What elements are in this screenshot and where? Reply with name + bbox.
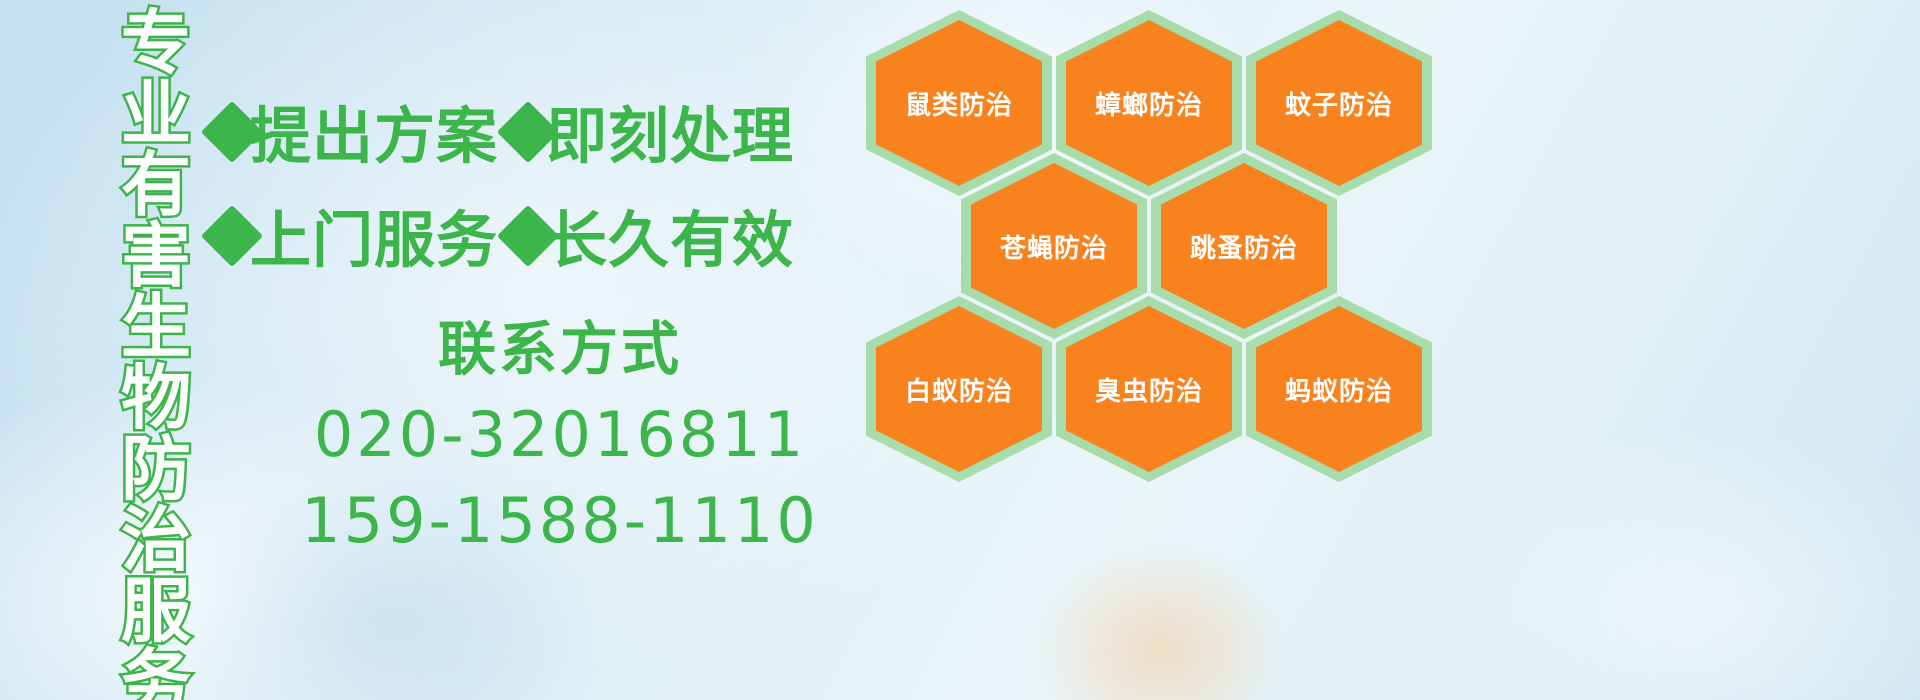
vertical-slogan-char: 专 [121, 8, 191, 79]
hex-inner: 苍蝇防治 [971, 163, 1137, 329]
vertical-slogan-char: 物 [121, 363, 191, 434]
contact-phone-mobile[interactable]: 159-1588-1110 [300, 478, 820, 564]
feature-list: 提出方案 即刻处理 上门服务 长久有效 [232, 78, 794, 286]
hex-label: 蟑螂防治 [1095, 85, 1203, 122]
hex-label: 跳蚤防治 [1190, 228, 1298, 265]
vertical-slogan-char: 防 [121, 434, 191, 505]
hex-inner: 蚂蚁防治 [1256, 306, 1422, 472]
contact-phone-landline[interactable]: 020-32016811 [300, 392, 820, 478]
vertical-slogan-char: 生 [121, 292, 191, 363]
contact-block: 联系方式 020-32016811 159-1588-1110 [300, 306, 820, 564]
feature-row: 上门服务 长久有效 [232, 182, 794, 286]
vertical-slogan-char: 治 [121, 505, 191, 576]
feature-item-long-lasting: 长久有效 [528, 190, 794, 279]
vertical-slogan-char: 服 [121, 576, 191, 647]
hex-label: 臭虫防治 [1095, 371, 1203, 408]
feature-item-onsite-service: 上门服务 [232, 190, 498, 279]
hex-inner: 臭虫防治 [1066, 306, 1232, 472]
background-haze-right [1420, 430, 1920, 700]
feature-label: 即刻处理 [546, 86, 794, 175]
hex-inner: 蚊子防治 [1256, 20, 1422, 186]
hex-inner: 白蚁防治 [876, 306, 1042, 472]
feature-item-propose-plan: 提出方案 [232, 86, 498, 175]
hex-inner: 跳蚤防治 [1161, 163, 1327, 329]
feature-label: 提出方案 [250, 86, 498, 175]
service-honeycomb: 鼠类防治 蟑螂防治 蚊子防治 苍蝇防治 跳蚤防治 白蚁防治 [860, 0, 1460, 580]
feature-label: 上门服务 [250, 190, 498, 279]
hex-inner: 蟑螂防治 [1066, 20, 1232, 186]
hex-label: 蚂蚁防治 [1285, 371, 1393, 408]
hex-label: 鼠类防治 [905, 85, 1013, 122]
vertical-slogan-char: 害 [121, 221, 191, 292]
vertical-slogan-char: 业 [121, 79, 191, 150]
hex-inner: 鼠类防治 [876, 20, 1042, 186]
hex-label: 苍蝇防治 [1000, 228, 1108, 265]
contact-title: 联系方式 [300, 306, 820, 392]
feature-row: 提出方案 即刻处理 [232, 78, 794, 182]
feature-label: 长久有效 [546, 190, 794, 279]
pest-control-banner: 专 业 有 害 生 物 防 治 服 务 提出方案 即刻处理 上门服务 [0, 0, 1920, 700]
vertical-slogan: 专 业 有 害 生 物 防 治 服 务 [103, 8, 209, 698]
vertical-slogan-char: 有 [121, 150, 191, 221]
hex-label: 白蚁防治 [905, 371, 1013, 408]
vertical-slogan-char: 务 [121, 647, 191, 700]
feature-item-immediate-handling: 即刻处理 [528, 86, 794, 175]
hex-label: 蚊子防治 [1285, 85, 1393, 122]
